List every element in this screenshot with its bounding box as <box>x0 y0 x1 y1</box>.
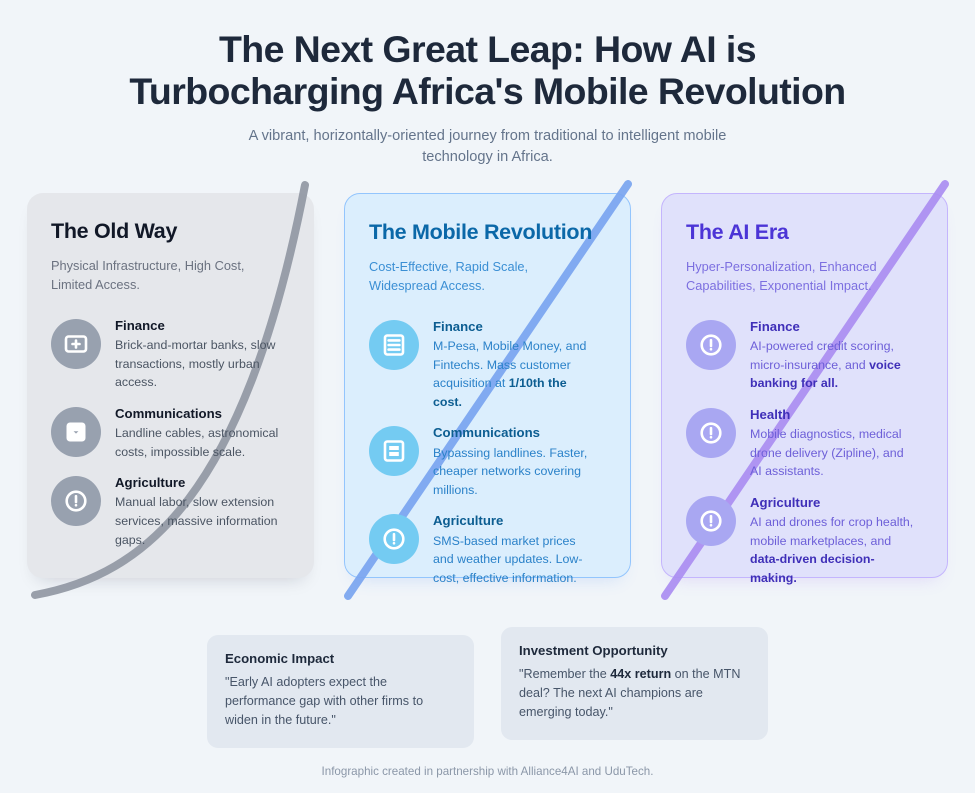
card-content: The Mobile RevolutionCost-Effective, Rap… <box>369 220 606 587</box>
card-item-text: FinanceM-Pesa, Mobile Money, and Fintech… <box>433 318 598 412</box>
card-item-description: Bypassing landlines. Faster, cheaper net… <box>433 444 598 500</box>
callout-investment-opportunity[interactable]: Investment Opportunity"Remember the 44x … <box>501 627 768 740</box>
card-item-label: Agriculture <box>115 474 280 491</box>
card-item[interactable]: FinanceM-Pesa, Mobile Money, and Fintech… <box>369 318 606 412</box>
exclamation-circle-icon <box>686 320 736 370</box>
callout-row: Economic Impact"Early AI adopters expect… <box>0 627 975 748</box>
card-item-text: FinanceBrick-and-mortar banks, slow tran… <box>115 317 280 392</box>
card-item-description: Landline cables, astronomical costs, imp… <box>115 424 280 461</box>
card-item[interactable]: HealthMobile diagnostics, medical drone … <box>686 406 923 481</box>
card-item-text: AgricultureAI and drones for crop health… <box>750 494 915 588</box>
callout-economic-impact[interactable]: Economic Impact"Early AI adopters expect… <box>207 635 474 748</box>
card-item[interactable]: FinanceBrick-and-mortar banks, slow tran… <box>51 317 290 392</box>
card-item[interactable]: CommunicationsBypassing landlines. Faste… <box>369 424 606 499</box>
card-item-description: SMS-based market prices and weather upda… <box>433 532 598 588</box>
card-item-list: FinanceBrick-and-mortar banks, slow tran… <box>51 317 290 549</box>
card-item[interactable]: CommunicationsLandline cables, astronomi… <box>51 405 290 461</box>
card-mobile-revolution[interactable]: The Mobile RevolutionCost-Effective, Rap… <box>344 193 631 578</box>
card-item-description: Brick-and-mortar banks, slow transaction… <box>115 336 280 392</box>
page-subtitle: A vibrant, horizontally-oriented journey… <box>228 126 748 168</box>
card-item-label: Communications <box>433 424 598 441</box>
card-content: The Old WayPhysical Infrastructure, High… <box>51 219 290 549</box>
exclamation-circle-icon <box>686 496 736 546</box>
card-item-list: FinanceAI-powered credit scoring, micro-… <box>686 318 923 588</box>
split-panel-icon <box>369 426 419 476</box>
card-ai-era[interactable]: The AI EraHyper-Personalization, Enhance… <box>661 193 948 578</box>
card-item[interactable]: AgricultureAI and drones for crop health… <box>686 494 923 588</box>
card-item-text: CommunicationsLandline cables, astronomi… <box>115 405 280 461</box>
plus-rectangle-icon <box>51 319 101 369</box>
header: The Next Great Leap: How AI is Turbochar… <box>0 0 975 168</box>
callout-text: "Early AI adopters expect the performanc… <box>225 673 456 730</box>
journey-cards: The Old WayPhysical Infrastructure, High… <box>0 193 975 578</box>
chevron-down-square-icon <box>51 407 101 457</box>
card-item-list: FinanceM-Pesa, Mobile Money, and Fintech… <box>369 318 606 588</box>
card-item-description: Mobile diagnostics, medical drone delive… <box>750 425 915 481</box>
card-tagline: Hyper-Personalization, Enhanced Capabili… <box>686 258 901 296</box>
card-item[interactable]: FinanceAI-powered credit scoring, micro-… <box>686 318 923 393</box>
card-item-label: Communications <box>115 405 280 422</box>
card-old-way[interactable]: The Old WayPhysical Infrastructure, High… <box>27 193 314 578</box>
callout-title: Investment Opportunity <box>519 643 750 658</box>
exclamation-circle-icon <box>369 514 419 564</box>
exclamation-circle-icon <box>686 408 736 458</box>
card-item[interactable]: AgricultureSMS-based market prices and w… <box>369 512 606 587</box>
infographic-page: The Next Great Leap: How AI is Turbochar… <box>0 0 975 793</box>
card-item-label: Agriculture <box>433 512 598 529</box>
card-item-label: Finance <box>115 317 280 334</box>
card-title: The AI Era <box>686 220 923 245</box>
card-item-label: Finance <box>750 318 915 335</box>
card-item-text: FinanceAI-powered credit scoring, micro-… <box>750 318 915 393</box>
card-item-label: Finance <box>433 318 598 335</box>
card-content: The AI EraHyper-Personalization, Enhance… <box>686 220 923 587</box>
footer-text: Infographic created in partnership with … <box>322 765 654 778</box>
card-item-description: Manual labor, slow extension services, m… <box>115 493 280 549</box>
card-tagline: Physical Infrastructure, High Cost, Limi… <box>51 257 266 295</box>
card-item-text: AgricultureSMS-based market prices and w… <box>433 512 598 587</box>
card-tagline: Cost-Effective, Rapid Scale, Widespread … <box>369 258 584 296</box>
card-item-description: AI and drones for crop health, mobile ma… <box>750 513 915 587</box>
card-item-text: HealthMobile diagnostics, medical drone … <box>750 406 915 481</box>
card-title: The Mobile Revolution <box>369 220 606 245</box>
footer: Infographic created in partnership with … <box>0 765 975 778</box>
card-item-label: Health <box>750 406 915 423</box>
card-item-text: AgricultureManual labor, slow extension … <box>115 474 280 549</box>
card-item-text: CommunicationsBypassing landlines. Faste… <box>433 424 598 499</box>
document-lines-icon <box>369 320 419 370</box>
card-item-description: M-Pesa, Mobile Money, and Fintechs. Mass… <box>433 337 598 411</box>
page-title: The Next Great Leap: How AI is Turbochar… <box>88 28 888 112</box>
card-item[interactable]: AgricultureManual labor, slow extension … <box>51 474 290 549</box>
card-title: The Old Way <box>51 219 290 244</box>
callout-title: Economic Impact <box>225 651 456 666</box>
card-item-description: AI-powered credit scoring, micro-insuran… <box>750 337 915 393</box>
callout-text: "Remember the 44x return on the MTN deal… <box>519 665 750 722</box>
exclamation-circle-icon <box>51 476 101 526</box>
card-item-label: Agriculture <box>750 494 915 511</box>
